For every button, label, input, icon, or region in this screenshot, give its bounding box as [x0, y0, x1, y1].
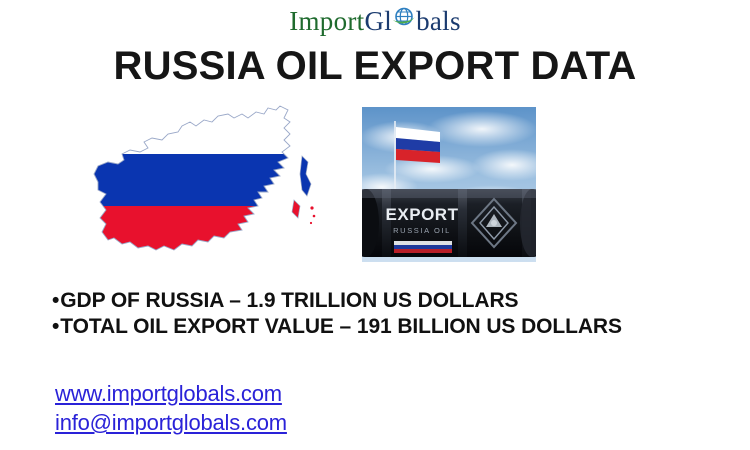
bullet-marker: •	[52, 289, 59, 312]
barrel-label-sub: RUSSIA OIL	[393, 226, 451, 235]
logo-text-bals: bals	[416, 6, 461, 36]
brand-logo: ImportGl bals	[0, 4, 750, 38]
oil-barrel-photo: EXPORT RUSSIA OIL	[362, 107, 536, 262]
list-item-text: GDP OF RUSSIA – 1.9 TRILLION US DOLLARS	[60, 289, 518, 312]
russia-flag-map-image	[78, 104, 318, 264]
list-item: •TOTAL OIL EXPORT VALUE – 191 BILLION US…	[52, 314, 712, 340]
globe-icon	[392, 5, 416, 29]
email-link[interactable]: info@importglobals.com	[55, 408, 287, 437]
bullet-marker: •	[52, 315, 59, 338]
page-title: RUSSIA OIL EXPORT DATA	[0, 44, 750, 89]
list-item: •GDP OF RUSSIA – 1.9 TRILLION US DOLLARS	[52, 288, 712, 314]
list-item-text: TOTAL OIL EXPORT VALUE – 191 BILLION US …	[60, 315, 622, 338]
barrel-label-main: EXPORT	[386, 205, 459, 224]
russian-flag	[396, 127, 440, 163]
contact-links: www.importglobals.com info@importglobals…	[55, 379, 287, 437]
website-link[interactable]: www.importglobals.com	[55, 379, 287, 408]
logo-text-gl: Gl	[364, 6, 392, 36]
slide-canvas: ImportGl bals RUSSIA OIL EXPORT DATA	[0, 0, 750, 450]
facts-list: •GDP OF RUSSIA – 1.9 TRILLION US DOLLARS…	[52, 288, 712, 340]
logo-text-import: Import	[289, 6, 364, 36]
